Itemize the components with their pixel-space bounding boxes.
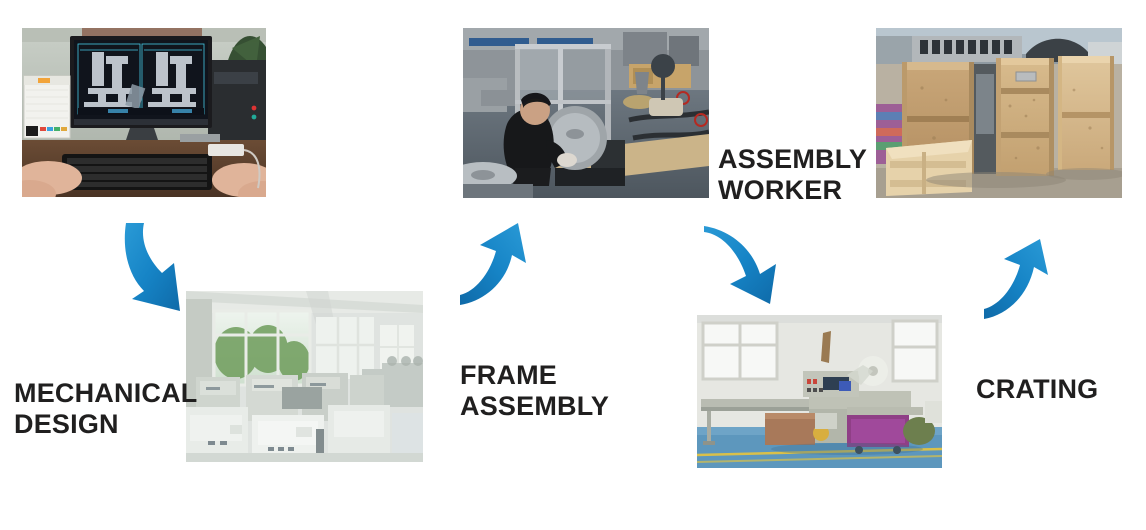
packaging-machine-photo (697, 315, 942, 468)
step-label-crating: CRATING (976, 374, 1098, 405)
process-flow-diagram: MECHANICAL DESIGN FRAME ASSEMBLY ASSEMBL… (0, 0, 1146, 530)
arrow-assembly-to-packaging (700, 222, 784, 308)
step-label-mechanical-design: MECHANICAL DESIGN (14, 378, 198, 441)
mechanical-design-scene (22, 28, 266, 197)
frame-assembly-photo (186, 291, 423, 462)
arrow-down-right-glyph-2 (700, 222, 784, 308)
frame-assembly-scene (186, 291, 423, 462)
assembly-worker-scene (463, 28, 709, 198)
mechanical-design-photo (22, 28, 266, 197)
step-label-assembly-worker: ASSEMBLY WORKER (718, 144, 867, 207)
arrow-up-right-glyph (458, 221, 540, 308)
arrow-up-right-glyph-2 (982, 237, 1060, 323)
arrow-down-right-glyph (118, 219, 190, 314)
crating-scene (876, 28, 1122, 198)
arrow-frame-to-assembly (458, 221, 540, 308)
step-label-frame-assembly: FRAME ASSEMBLY (460, 360, 609, 423)
arrow-packaging-to-crating (982, 237, 1060, 323)
arrow-design-to-frame (118, 219, 190, 314)
packaging-machine-scene (697, 315, 942, 468)
crating-photo (876, 28, 1122, 198)
assembly-worker-photo (463, 28, 709, 198)
